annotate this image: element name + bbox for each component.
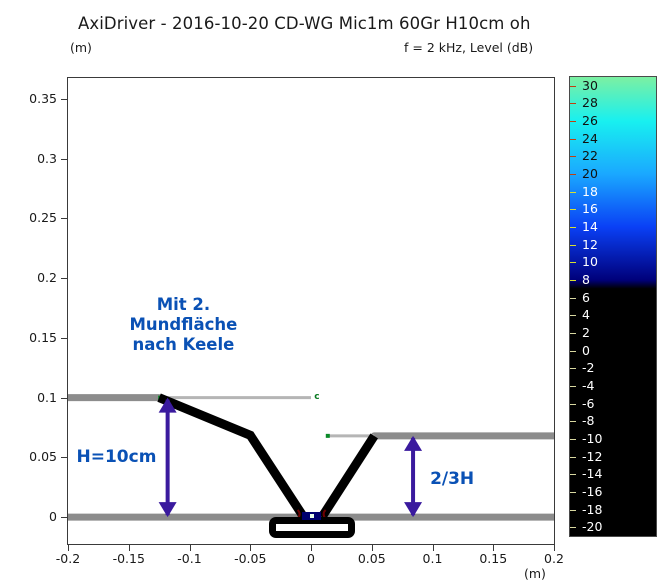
x-axis-tick (433, 544, 434, 551)
x-axis-tick-label: -0.2 (38, 553, 98, 565)
y-axis-tick (61, 159, 68, 160)
driver-enclosure (269, 517, 355, 538)
y-axis-tick (61, 517, 68, 518)
y-axis-tick (61, 457, 68, 458)
x-axis-tick-label: 0 (281, 553, 341, 565)
y-axis-tick-label: 0.3 (3, 153, 57, 165)
curve-marker-label: c (314, 393, 319, 402)
colorbar-tick-label: 24 (582, 133, 598, 145)
colorbar-tick-label: -14 (582, 468, 602, 480)
x-axis-tick (129, 544, 130, 551)
colorbar-tick-label: 10 (582, 256, 598, 268)
x-axis-tick (493, 544, 494, 551)
dimension-arrow (159, 398, 177, 517)
colorbar-tick-label: -8 (582, 415, 594, 427)
x-axis-tick (372, 544, 373, 551)
annotation-height-label: H=10cm (77, 447, 157, 467)
colorbar-tick (570, 139, 576, 140)
colorbar-tick (570, 386, 576, 387)
colorbar-tick (570, 156, 576, 157)
colorbar-tick (570, 439, 576, 440)
x-axis-tick (68, 544, 69, 551)
plot-inner: Mit 2. Mundfläche nach Keele H=10cm 2/3H… (68, 78, 554, 544)
y-axis-tick-label: 0.2 (3, 272, 57, 284)
colorbar-tick-label: 12 (582, 239, 598, 251)
x-axis-unit-label: (m) (524, 566, 546, 581)
page-title: AxiDriver - 2016-10-20 CD-WG Mic1m 60Gr … (78, 14, 531, 33)
x-axis-tick-label: -0.05 (220, 553, 280, 565)
colorbar-tick-label: -20 (582, 521, 602, 533)
reference-line-endpoint-marker (326, 434, 330, 438)
annotation-keele-note: Mit 2. Mundfläche nach Keele (103, 295, 263, 355)
y-axis-tick-label: 0.15 (3, 332, 57, 344)
colorbar-tick-label: -4 (582, 380, 594, 392)
colorbar-tick (570, 404, 576, 405)
y-axis-tick (61, 398, 68, 399)
colorbar-tick-label: 8 (582, 274, 590, 286)
colorbar-tick-label: -18 (582, 504, 602, 516)
y-axis-tick (61, 218, 68, 219)
colorbar-tick-label: 22 (582, 150, 598, 162)
x-axis-tick (311, 544, 312, 551)
dimension-arrow (404, 436, 422, 517)
colorbar-tick-label: 0 (582, 345, 590, 357)
y-axis-tick-label: 0.05 (3, 451, 57, 463)
x-axis-tick-label: -0.15 (99, 553, 159, 565)
colorbar-tick-label: 16 (582, 203, 598, 215)
colorbar-tick-label: 4 (582, 309, 590, 321)
y-axis-tick-label: 0 (3, 511, 57, 523)
colorbar-tick (570, 492, 576, 493)
colorbar-tick (570, 227, 576, 228)
colorbar-tick-label: -6 (582, 398, 594, 410)
y-axis-tick-label: 0.35 (3, 93, 57, 105)
colorbar-tick (570, 121, 576, 122)
colorbar-tick (570, 103, 576, 104)
colorbar-tick (570, 474, 576, 475)
colorbar-tick (570, 368, 576, 369)
horn-wall (159, 398, 304, 517)
colorbar-tick (570, 262, 576, 263)
y-axis-tick-label: 0.25 (3, 212, 57, 224)
colorbar-tick-label: 20 (582, 168, 598, 180)
colorbar-tick-label: -12 (582, 451, 602, 463)
colorbar-tick (570, 527, 576, 528)
colorbar-tick (570, 333, 576, 334)
colorbar-tick (570, 280, 576, 281)
colorbar-tick (570, 174, 576, 175)
colorbar-tick-label: 30 (582, 80, 598, 92)
colorbar-tick (570, 298, 576, 299)
colorbar-tick-label: 6 (582, 292, 590, 304)
plot-area: Mit 2. Mundfläche nach Keele H=10cm 2/3H… (67, 77, 555, 545)
colorbar-tick (570, 510, 576, 511)
x-axis-tick-label: 0.05 (342, 553, 402, 565)
colorbar-tick-label: 18 (582, 186, 598, 198)
y-axis-tick (61, 278, 68, 279)
x-axis-tick-label: 0.1 (403, 553, 463, 565)
colorbar-tick-label: -16 (582, 486, 602, 498)
colorbar-tick (570, 209, 576, 210)
colorbar-tick-label: 26 (582, 115, 598, 127)
colorbar-tick (570, 315, 576, 316)
y-axis-unit-label: (m) (70, 40, 92, 55)
colorbar: 302826242220181614121086420-2-4-6-8-10-1… (569, 76, 657, 537)
x-axis-tick (250, 544, 251, 551)
chart-canvas: AxiDriver - 2016-10-20 CD-WG Mic1m 60Gr … (0, 0, 666, 588)
horn-wall (322, 436, 374, 517)
colorbar-tick (570, 245, 576, 246)
colorbar-tick (570, 86, 576, 87)
x-axis-tick-label: -0.1 (160, 553, 220, 565)
y-axis-tick (61, 99, 68, 100)
colorbar-tick (570, 421, 576, 422)
colorbar-tick-label: 2 (582, 327, 590, 339)
colorbar-tick (570, 192, 576, 193)
x-axis-tick (554, 544, 555, 551)
colorbar-tick-label: 28 (582, 97, 598, 109)
y-axis-tick (61, 338, 68, 339)
colorbar-tick (570, 351, 576, 352)
colorbar-tick (570, 457, 576, 458)
x-axis-tick-label: 0.2 (524, 553, 584, 565)
x-axis-tick-label: 0.15 (463, 553, 523, 565)
colorbar-tick-label: -10 (582, 433, 602, 445)
annotation-mouth-label: 2/3H (430, 469, 474, 489)
chart-subtitle: f = 2 kHz, Level (dB) (404, 40, 533, 55)
driver-center-marker (310, 514, 314, 518)
colorbar-tick-label: 14 (582, 221, 598, 233)
colorbar-tick-label: -2 (582, 362, 594, 374)
x-axis-tick (190, 544, 191, 551)
y-axis-tick-label: 0.1 (3, 392, 57, 404)
